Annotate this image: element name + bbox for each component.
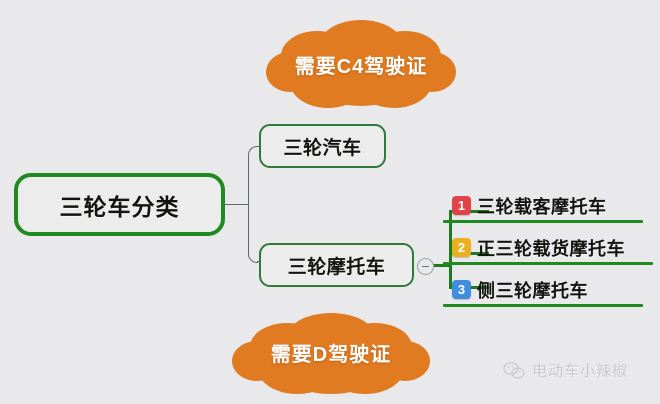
branch-node-car-label: 三轮汽车 <box>283 133 361 160</box>
watermark: 电动车小辣椒 <box>503 360 628 381</box>
leaf-label-2: 正三轮载货摩托车 <box>477 235 625 261</box>
wechat-icon <box>503 361 525 380</box>
cloud-bottom-label: 需要D驾驶证 <box>231 338 431 367</box>
cloud-callout-top: 需要C4驾驶证 <box>266 12 456 112</box>
leaf-item-3[interactable]: 3 侧三轮摩托车 <box>452 276 588 303</box>
branch-node-three-wheel-motorcycle[interactable]: 三轮摩托车 <box>259 243 414 287</box>
root-node[interactable]: 三轮车分类 <box>14 173 225 236</box>
leaf-badge-3: 3 <box>452 280 471 299</box>
collapse-toggle-icon[interactable] <box>417 258 434 275</box>
leaf-label-3: 侧三轮摩托车 <box>477 277 588 303</box>
branch-node-moto-label: 三轮摩托车 <box>288 252 386 279</box>
leaf-underline-2 <box>443 262 653 265</box>
minus-icon <box>422 266 429 267</box>
cloud-top-label: 需要C4驾驶证 <box>266 50 456 79</box>
leaf-underline-3 <box>443 304 643 307</box>
leaf-underline-1 <box>443 220 643 223</box>
watermark-label: 电动车小辣椒 <box>532 360 628 381</box>
leaf-badge-2: 2 <box>452 238 471 257</box>
root-node-label: 三轮车分类 <box>60 188 180 222</box>
mindmap-canvas: 需要C4驾驶证 需要D驾驶证 三轮车分类 <box>0 0 660 404</box>
connector-elbow-upper <box>248 146 258 156</box>
connector-spine <box>248 155 249 253</box>
leaf-item-1[interactable]: 1 三轮载客摩托车 <box>452 192 607 219</box>
leaf-item-2[interactable]: 2 正三轮载货摩托车 <box>452 234 625 261</box>
cloud-callout-bottom: 需要D驾驶证 <box>231 305 431 401</box>
branch-node-three-wheel-car[interactable]: 三轮汽车 <box>259 124 386 168</box>
leaf-label-1: 三轮载客摩托车 <box>477 193 607 219</box>
connector-root-stub <box>225 204 248 205</box>
leaf-badge-1: 1 <box>452 196 471 215</box>
